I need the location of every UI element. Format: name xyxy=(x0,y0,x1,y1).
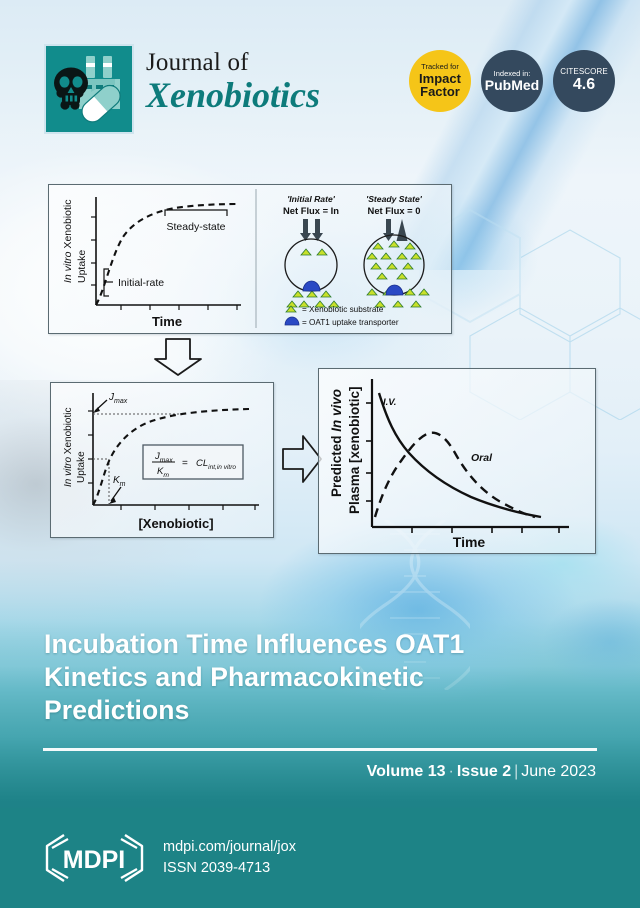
page-title-line3: Predictions xyxy=(44,694,514,727)
badge-pubmed-line1: PubMed xyxy=(485,78,539,93)
cell-left-title: 'Initial Rate' xyxy=(287,194,335,204)
figure-panel-michaelis-menten: Jmax Km Jmax Km = CLint,in vitro In vitr… xyxy=(50,382,274,538)
annotation-steady-state: Steady-state xyxy=(167,221,226,233)
flux-arrow-balanced-right xyxy=(383,219,408,241)
title-divider xyxy=(43,748,597,751)
cell-left-subtitle: Net Flux = In xyxy=(283,205,339,216)
page-title-line2: Kinetics and Pharmacokinetic xyxy=(44,661,514,694)
issue-dot: · xyxy=(446,763,457,780)
badge-citescore-small: CITESCORE xyxy=(560,67,608,76)
svg-text:Plasma [xenobiotic]: Plasma [xenobiotic] xyxy=(347,386,362,514)
badge-impact-factor[interactable]: Tracked for Impact Factor xyxy=(409,50,471,112)
journal-cover: Journal of Xenobiotics Tracked for Impac… xyxy=(0,0,640,908)
badge-pubmed[interactable]: Indexed in: PubMed xyxy=(481,50,543,112)
badge-impact-factor-line2: Factor xyxy=(420,85,460,99)
issue-info: Volume 13·Issue 2|June 2023 xyxy=(367,762,596,781)
figure-panel-plasma-profile: I.V. Oral Predicted In vivo Plasma [xeno… xyxy=(318,368,596,554)
oat1-transporter-right xyxy=(386,285,403,295)
mdpi-wordmark: MDPI xyxy=(63,846,126,874)
panel1-x-axis-label: Time xyxy=(152,314,182,329)
annotation-initial-rate: Initial-rate xyxy=(118,277,164,289)
flux-arrow-in-left xyxy=(300,219,323,241)
badge-citescore[interactable]: CITESCORE 4.6 xyxy=(553,50,615,112)
footer-url[interactable]: mdpi.com/journal/jox xyxy=(163,837,296,858)
oat1-transporter-left xyxy=(303,281,320,291)
svg-text:=: = xyxy=(182,458,188,469)
panel2-y-axis-label: In vitro Xenobiotic xyxy=(63,408,74,488)
badge-group: Tracked for Impact Factor Indexed in: Pu… xyxy=(409,50,615,112)
arrow-down-icon xyxy=(148,337,208,377)
legend-transporter-icon xyxy=(285,317,299,325)
panel3-x-axis-label: Time xyxy=(453,534,486,550)
label-jmax: Jmax xyxy=(108,392,128,405)
page-title-line1: Incubation Time Influences OAT1 xyxy=(44,628,514,661)
mdpi-logo-icon[interactable]: MDPI xyxy=(42,830,147,886)
curve-iv xyxy=(379,393,541,517)
journal-title-line1: Journal of xyxy=(146,50,320,76)
issue-number: Issue 2 xyxy=(457,763,511,780)
panel3-y-axis-label: Predicted In vivo xyxy=(329,389,344,497)
panel2-x-axis-label: [Xenobiotic] xyxy=(138,516,213,531)
cover-header: Journal of Xenobiotics Tracked for Impac… xyxy=(0,0,640,135)
badge-impact-factor-line1: Impact xyxy=(419,72,461,86)
journal-title-line2: Xenobiotics xyxy=(146,77,320,115)
cell-right-subtitle: Net Flux = 0 xyxy=(368,205,421,216)
page-title: Incubation Time Influences OAT1 Kinetics… xyxy=(44,628,514,727)
issue-volume: Volume 13 xyxy=(367,763,446,780)
legend-transporter-label: = OAT1 uptake transporter xyxy=(302,318,399,327)
series-label-iv: I.V. xyxy=(383,397,396,408)
legend-substrate-label: = Xenobiotic substrate xyxy=(302,305,384,314)
svg-text:Uptake: Uptake xyxy=(76,451,87,483)
figure-legend: = Xenobiotic substrate = OAT1 uptake tra… xyxy=(285,305,399,327)
figure-panel-uptake-vs-time: Steady-state Initial-rate In vitro Xenob… xyxy=(48,184,452,334)
label-km: Km xyxy=(113,475,126,488)
cell-right-title: 'Steady State' xyxy=(366,194,423,204)
substrate-triangles-right xyxy=(367,241,429,307)
svg-text:Uptake: Uptake xyxy=(76,250,88,283)
panel1-y-axis-label: In vitro Xenobiotic xyxy=(62,200,74,283)
issue-date: June 2023 xyxy=(521,763,596,780)
badge-citescore-value: 4.6 xyxy=(573,76,595,94)
journal-title: Journal of Xenobiotics xyxy=(146,50,320,115)
issue-pipe: | xyxy=(511,763,521,780)
curve-oral xyxy=(375,433,535,517)
journal-logo-icon xyxy=(44,44,134,134)
equation-box: Jmax Km = CLint,in vitro xyxy=(143,445,243,479)
substrate-triangles-left xyxy=(287,249,339,307)
series-label-oral: Oral xyxy=(471,452,493,464)
footer-issn: ISSN 2039-4713 xyxy=(163,858,296,879)
footer-text: mdpi.com/journal/jox ISSN 2039-4713 xyxy=(163,837,296,879)
cover-footer: MDPI mdpi.com/journal/jox ISSN 2039-4713 xyxy=(0,808,640,908)
